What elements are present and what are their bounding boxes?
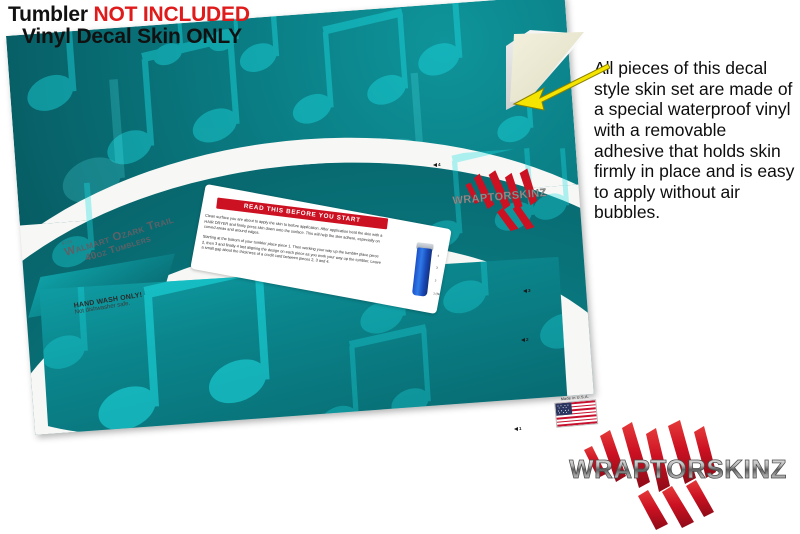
wraptorskinz-logo-small: WRAPTORSKINZ [434,165,567,238]
claw-logo-icon-small: WRAPTORSKINZ [434,165,567,238]
tumbler-illustration: 4 3 2 1 (Start Here) [408,240,441,303]
piece-marker-2: 2 [521,337,529,342]
tumbler-body [412,247,432,296]
header-line-2: Vinyl Decal Skin ONLY [22,26,250,48]
copyright-text: COPYRIGHT © 2019 WRAPTORSKINZ LLC - ALL … [294,428,502,435]
tumbler-label-3: 3 [436,267,438,270]
header-line-1-prefix: Tumbler [8,3,94,26]
piece-marker-1-label: 1 [519,426,522,431]
header-line-1-emphasis: NOT INCLUDED [94,3,250,26]
header-line-1: Tumbler NOT INCLUDED [8,4,250,26]
piece-marker-3: 3 [523,288,531,293]
wraptorskinz-wordmark-large: WRAPTORSKINZ [569,454,787,484]
marker-triangle-icon [433,163,437,167]
piece-marker-4-label: 4 [438,162,441,167]
yellow-arrow [500,58,610,118]
piece-marker-3-label: 3 [528,288,531,293]
piece-marker-2-label: 2 [526,337,529,342]
flag-canton [555,402,572,416]
claw-logo-icon-large: WRAPTORSKINZ [556,420,800,532]
wraptorskinz-logo-large: WRAPTORSKINZ [556,420,800,532]
screenshot-canvas: Tumbler NOT INCLUDED Vinyl Decal Skin ON… [0,0,800,534]
callout-text: All pieces of this decal style skin set … [594,58,800,223]
arrow-icon [500,58,610,118]
marker-triangle-icon [514,427,518,431]
tumbler-label-4: 4 [437,255,439,258]
marker-triangle-icon [521,338,525,342]
wraptorskinz-wordmark-small: WRAPTORSKINZ [452,187,547,207]
header-text: Tumbler NOT INCLUDED Vinyl Decal Skin ON… [8,4,250,48]
tumbler-label-2: 2 [434,279,436,282]
marker-triangle-icon [523,289,527,293]
piece-marker-4: 4 [433,162,441,167]
piece-marker-1: 1 [514,426,522,431]
